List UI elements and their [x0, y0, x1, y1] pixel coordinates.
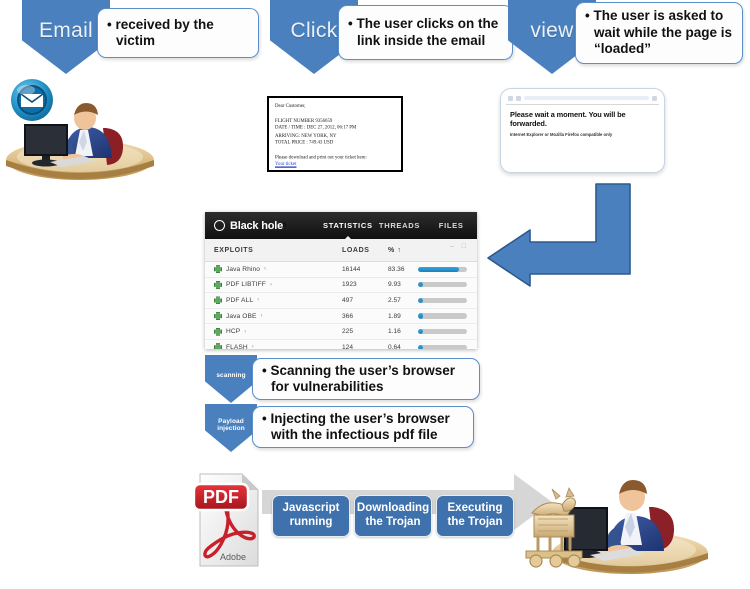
email-line-1: FLIGHT NUMBER 9356659 [275, 118, 332, 123]
chevron-right-icon[interactable]: › [270, 282, 272, 288]
blackhole-exploit-kit-panel: Black hole 0 STATISTICS THREADS FILES EX… [205, 212, 477, 349]
percent-cell: 9.93 [388, 281, 418, 288]
progress-track [418, 267, 467, 272]
table-row[interactable]: HCP›2251.16 [205, 324, 477, 340]
blackhole-brand-sup: 0 [283, 223, 286, 229]
column-header-percent: % ↑ [388, 247, 418, 254]
callout-click: The user clicks on the link inside the e… [338, 5, 513, 60]
progress-track [418, 345, 467, 349]
exploit-name-cell: HCP› [205, 328, 342, 336]
blackhole-logo: Black hole 0 [205, 220, 322, 232]
column-header-loads: LOADS [342, 247, 388, 254]
chevron-email-label: Email [39, 19, 93, 43]
browser-forward-icon [516, 96, 521, 101]
stage-executing-trojan: Executing the Trojan [436, 495, 514, 537]
pdf-brand-label: Adobe [220, 552, 246, 562]
progress-fill [418, 329, 423, 334]
blackhole-exploit-table: Java Rhino›1614483.36PDF LIBTIFF›19239.9… [205, 262, 477, 349]
browser-page-body: Please wait a moment. You will be forwar… [506, 105, 659, 142]
callout-scanning-text: Scanning the user’s browser for vulnerab… [262, 363, 470, 396]
tab-files[interactable]: FILES [425, 221, 477, 230]
loads-cell: 124 [342, 344, 388, 349]
loads-cell: 497 [342, 297, 388, 304]
progress-fill [418, 345, 423, 349]
exploit-name-cell: PDF LIBTIFF› [205, 281, 342, 289]
table-row[interactable]: Java Rhino›1614483.36 [205, 262, 477, 278]
percent-cell: 0.64 [388, 344, 418, 349]
callout-scanning: Scanning the user’s browser for vulnerab… [252, 358, 480, 400]
browser-back-icon [508, 96, 513, 101]
loading-page-screenshot: Please wait a moment. You will be forwar… [500, 88, 665, 173]
exploit-name-cell: PDF ALL› [205, 296, 342, 304]
victim-at-desk-illustration [2, 78, 162, 183]
browser-headline: Please wait a moment. You will be forwar… [510, 110, 655, 128]
chevron-payload-injection: Payload injection [205, 404, 257, 452]
elbow-arrow-to-exploit-kit [484, 182, 632, 288]
tab-statistics[interactable]: STATISTICS [322, 221, 374, 230]
browser-chrome-bar [506, 94, 659, 105]
callout-email: received by the victim [97, 8, 259, 58]
column-header-exploits: EXPLOITS [205, 247, 342, 254]
percent-bar-cell [418, 267, 477, 272]
table-row[interactable]: PDF LIBTIFF›19239.93 [205, 278, 477, 294]
browser-subtext: Internet Explorer or Mozilla Firefox com… [510, 132, 655, 137]
stage-executing-trojan-label: Executing the Trojan [441, 502, 509, 529]
chevron-right-icon[interactable]: › [244, 329, 246, 335]
percent-bar-cell [418, 298, 477, 303]
infected-victim-with-trojan-horse-illustration [520, 455, 746, 585]
callout-view: The user is asked to wait while the page… [575, 2, 743, 64]
progress-fill [418, 282, 423, 287]
pdf-badge-label: PDF [203, 487, 239, 507]
exploit-name-cell: FLASH› [205, 343, 342, 349]
chevron-view-label: view [530, 19, 573, 43]
email-line-4: TOTAL PRICE : 749.43 USD [275, 139, 333, 144]
circle-icon [214, 220, 225, 231]
phishing-email-screenshot: Dear Customer, FLIGHT NUMBER 9356659 DAT… [267, 96, 403, 172]
email-greeting: Dear Customer, [275, 103, 306, 108]
puzzle-piece-icon [214, 328, 222, 336]
email-malicious-link[interactable]: Your ticket [275, 161, 296, 166]
trojan-horse-icon [526, 488, 582, 567]
chevron-right-icon[interactable]: › [252, 344, 254, 349]
progress-track [418, 313, 467, 318]
pdf-file-icon: PDF Adobe [192, 470, 264, 570]
progress-fill [418, 313, 423, 318]
table-row[interactable]: PDF ALL›4972.57 [205, 293, 477, 309]
stage-downloading-trojan-label: Downloading the Trojan [357, 502, 429, 529]
progress-track [418, 282, 467, 287]
percent-bar-cell [418, 313, 477, 318]
exploit-name-cell: Java Rhino› [205, 265, 342, 273]
callout-payload-injection-text: Injecting the user’s browser with the in… [262, 411, 464, 444]
email-line-3: ARRIVING: NEW YORK, NY [275, 132, 336, 137]
progress-track [418, 298, 467, 303]
percent-bar-cell [418, 329, 477, 334]
table-row[interactable]: FLASH›1240.64 [205, 340, 477, 349]
exploit-name-label: Java Rhino [226, 266, 260, 273]
loads-cell: 366 [342, 313, 388, 320]
chevron-scanning: scanning [205, 355, 257, 403]
browser-address-bar[interactable] [524, 96, 649, 100]
tab-threads[interactable]: THREADS [374, 221, 426, 230]
puzzle-piece-icon [214, 281, 222, 289]
callout-payload-injection: Injecting the user’s browser with the in… [252, 406, 474, 448]
browser-menu-icon [652, 96, 657, 101]
percent-bar-cell [418, 345, 477, 349]
chevron-scanning-label: scanning [216, 372, 245, 379]
percent-cell: 2.57 [388, 297, 418, 304]
callout-view-text: The user is asked to wait while the page… [585, 8, 733, 57]
exploit-name-label: PDF ALL [226, 297, 253, 304]
chevron-right-icon[interactable]: › [257, 297, 259, 303]
stage-javascript-running: Javascript running [272, 495, 350, 537]
progress-fill [418, 298, 423, 303]
callout-email-text: received by the victim [107, 17, 249, 50]
puzzle-piece-icon [214, 296, 222, 304]
chevron-click-label: Click [291, 19, 338, 43]
blackhole-titlebar: Black hole 0 STATISTICS THREADS FILES [205, 212, 477, 239]
percent-cell: 1.89 [388, 313, 418, 320]
email-line-2: DATE / TIME : DEC 27, 2012, 06:17 PM [275, 125, 356, 130]
email-instruction: Please download and print out your ticke… [275, 154, 367, 159]
progress-fill [418, 267, 459, 272]
exploit-name-cell: Java OBE› [205, 312, 342, 320]
exploit-name-label: PDF LIBTIFF [226, 281, 266, 288]
window-controls[interactable]: – □ [450, 243, 469, 250]
table-row[interactable]: Java OBE›3661.89 [205, 309, 477, 325]
puzzle-piece-icon [214, 312, 222, 320]
puzzle-piece-icon [214, 265, 222, 273]
progress-track [418, 329, 467, 334]
puzzle-piece-icon [214, 343, 222, 349]
stage-javascript-running-label: Javascript running [277, 502, 345, 529]
loads-cell: 225 [342, 328, 388, 335]
percent-cell: 1.16 [388, 328, 418, 335]
diagram-canvas: Email received by the victim Click The u… [0, 0, 750, 589]
chevron-right-icon[interactable]: › [264, 266, 266, 272]
chevron-right-icon[interactable]: › [261, 313, 263, 319]
callout-click-text: The user clicks on the link inside the e… [348, 16, 503, 49]
percent-cell: 83.36 [388, 266, 418, 273]
exploit-name-label: FLASH [226, 344, 248, 349]
exploit-name-label: HCP [226, 328, 240, 335]
exploit-name-label: Java OBE [226, 313, 257, 320]
loads-cell: 16144 [342, 266, 388, 273]
blackhole-column-headers: EXPLOITS LOADS % ↑ [205, 239, 477, 262]
chevron-payload-injection-label: Payload injection [217, 418, 245, 433]
percent-bar-cell [418, 282, 477, 287]
stage-downloading-trojan: Downloading the Trojan [354, 495, 432, 537]
blackhole-brand: Black hole [230, 220, 283, 232]
loads-cell: 1923 [342, 281, 388, 288]
